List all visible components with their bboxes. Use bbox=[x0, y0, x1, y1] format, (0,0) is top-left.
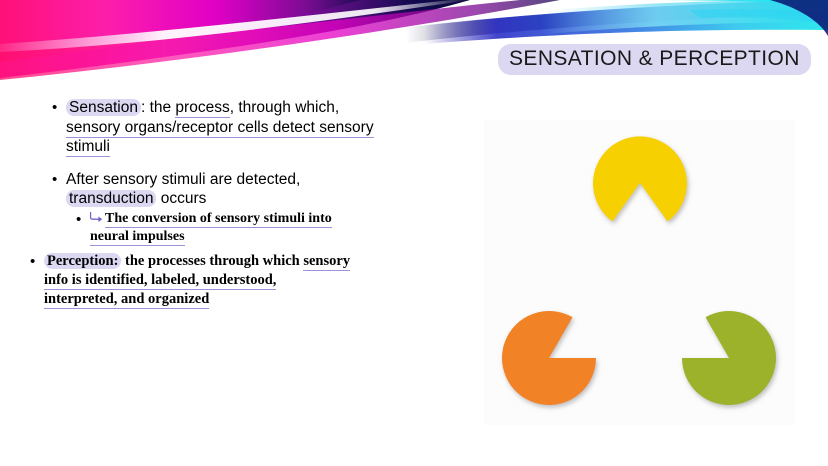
sub-line-2: neural impulses bbox=[90, 229, 185, 246]
underline-line2: sensory organs/receptor cells detect sen… bbox=[66, 119, 374, 138]
top-yellow-disc bbox=[593, 136, 687, 221]
slide-title-container: SENSATION & PERCEPTION bbox=[498, 44, 811, 75]
right-green-disc bbox=[682, 311, 776, 405]
text-after-detected: After sensory stimuli are detected, bbox=[66, 171, 300, 188]
list-item: • Perception: the processes through whic… bbox=[30, 252, 460, 309]
list-item: • After sensory stimuli are detected, tr… bbox=[52, 170, 460, 209]
kanizsa-triangle-illusion bbox=[484, 120, 794, 425]
bullet-marker: • bbox=[52, 170, 66, 190]
arrow-right-icon bbox=[90, 210, 103, 229]
text-occurs: occurs bbox=[156, 190, 206, 207]
perception-line-2: info is identified, labeled, understood, bbox=[44, 272, 276, 290]
text-processes: the processes through which bbox=[121, 253, 303, 269]
underline-sensory: sensory bbox=[303, 253, 350, 271]
bullet-marker: • bbox=[30, 252, 44, 272]
page-title: SENSATION & PERCEPTION bbox=[498, 44, 811, 75]
bullet-text-sensation: Sensation: the process, through which, s… bbox=[66, 98, 460, 157]
bullet-text-transduction: After sensory stimuli are detected, tran… bbox=[66, 170, 460, 209]
sub-line-1: The conversion of sensory stimuli into bbox=[105, 211, 332, 228]
bullet-text-perception: Perception: the processes through which … bbox=[44, 252, 460, 309]
left-orange-disc bbox=[502, 311, 596, 405]
highlight-perception: Perception: bbox=[44, 253, 121, 269]
underline-process: process bbox=[175, 99, 229, 118]
bullet-marker: • bbox=[52, 98, 66, 118]
list-item: • Sensation: the process, through which,… bbox=[52, 98, 460, 157]
bullet-marker: • bbox=[76, 210, 90, 230]
highlight-transduction: transduction bbox=[66, 190, 156, 207]
highlight-sensation: Sensation bbox=[66, 99, 141, 116]
underline-line3: stimuli bbox=[66, 138, 110, 157]
presentation-slide: SENSATION & PERCEPTION • Sensation: the … bbox=[0, 0, 828, 466]
bullet-text-conversion: The conversion of sensory stimuli into n… bbox=[90, 210, 460, 247]
text-plain-2: , through which, bbox=[230, 99, 339, 116]
perception-line-3: interpreted, and organized bbox=[44, 291, 209, 309]
text-plain-1: : the bbox=[141, 99, 175, 116]
slide-body: • Sensation: the process, through which,… bbox=[30, 98, 460, 309]
sub-list-item: • The conversion of sensory stimuli into… bbox=[76, 210, 460, 247]
